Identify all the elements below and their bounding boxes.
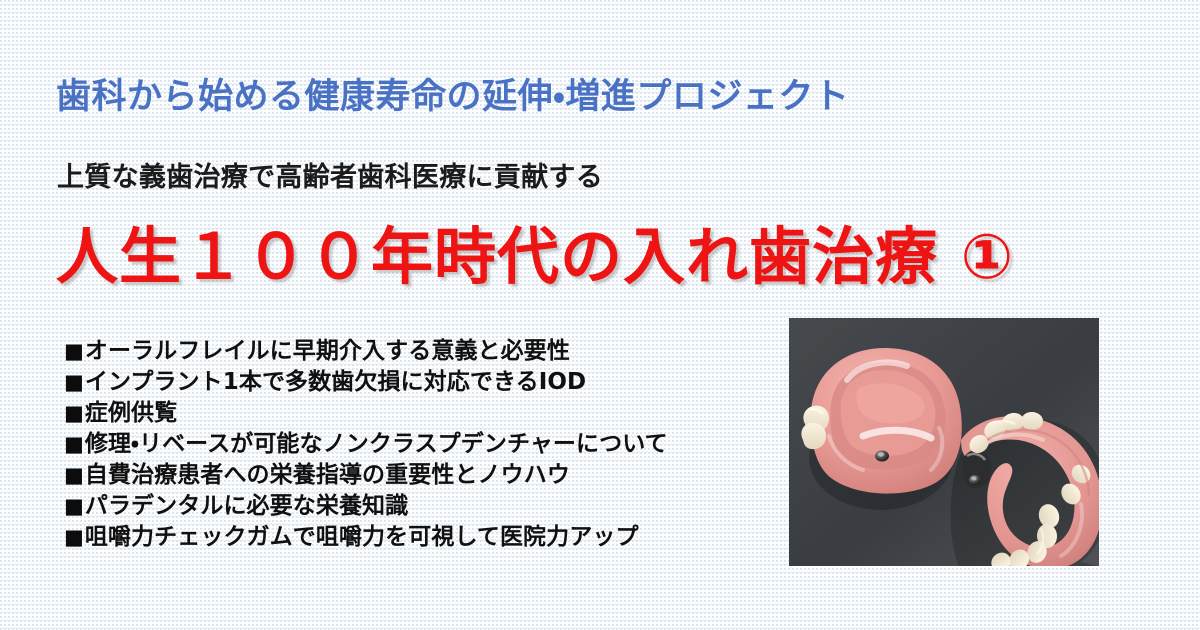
list-item-label: 咀嚼力チェックガムで咀嚼力を可視して医院力アップ bbox=[85, 522, 639, 553]
denture-photo-illustration bbox=[789, 318, 1099, 566]
lower-denture bbox=[951, 411, 1099, 566]
list-item: ■ インプラント1本で多数歯欠損に対応できるIOD bbox=[64, 367, 774, 398]
implant-attachment bbox=[875, 451, 889, 462]
list-item: ■ 咀嚼力チェックガムで咀嚼力を可視して医院力アップ bbox=[64, 522, 774, 553]
bullet-square-icon: ■ bbox=[64, 367, 84, 398]
list-item-label: パラデンタルに必要な栄養知識 bbox=[85, 491, 408, 522]
page-title: 歯科から始める健康寿命の延伸・増進プロジェクト bbox=[56, 74, 1056, 120]
list-item-label: インプラント1本で多数歯欠損に対応できるIOD bbox=[85, 367, 586, 398]
bullet-square-icon: ■ bbox=[64, 522, 84, 553]
list-item: ■ 症例供覧 bbox=[64, 398, 774, 429]
headline-text: 人生１００年時代の入れ歯治療 ① bbox=[56, 218, 1014, 296]
list-item: ■ 自費治療患者への栄養指導の重要性とノウハウ bbox=[64, 460, 774, 491]
denture-photo bbox=[789, 318, 1099, 566]
bullet-square-icon: ■ bbox=[64, 429, 84, 460]
bullet-square-icon: ■ bbox=[64, 336, 84, 367]
subtitle-text: 上質な義歯治療で高齢者歯科医療に貢献する bbox=[57, 160, 603, 196]
list-item-label: 修理・リベースが可能なノンクラスプデンチャーについて bbox=[85, 429, 668, 460]
list-item-label: 症例供覧 bbox=[85, 398, 177, 429]
list-item-label: 自費治療患者への栄養指導の重要性とノウハウ bbox=[85, 460, 570, 491]
agenda-list: ■ オーラルフレイルに早期介入する意義と必要性 ■ インプラント1本で多数歯欠損… bbox=[64, 336, 774, 553]
bullet-square-icon: ■ bbox=[64, 491, 84, 522]
list-item-label: オーラルフレイルに早期介入する意義と必要性 bbox=[85, 336, 570, 367]
list-item: ■ 修理・リベースが可能なノンクラスプデンチャーについて bbox=[64, 429, 774, 460]
list-item: ■ パラデンタルに必要な栄養知識 bbox=[64, 491, 774, 522]
slide-canvas: 歯科から始める健康寿命の延伸・増進プロジェクト 上質な義歯治療で高齢者歯科医療に… bbox=[0, 0, 1200, 630]
bullet-square-icon: ■ bbox=[64, 460, 84, 491]
list-item: ■ オーラルフレイルに早期介入する意義と必要性 bbox=[64, 336, 774, 367]
bullet-square-icon: ■ bbox=[64, 398, 84, 429]
